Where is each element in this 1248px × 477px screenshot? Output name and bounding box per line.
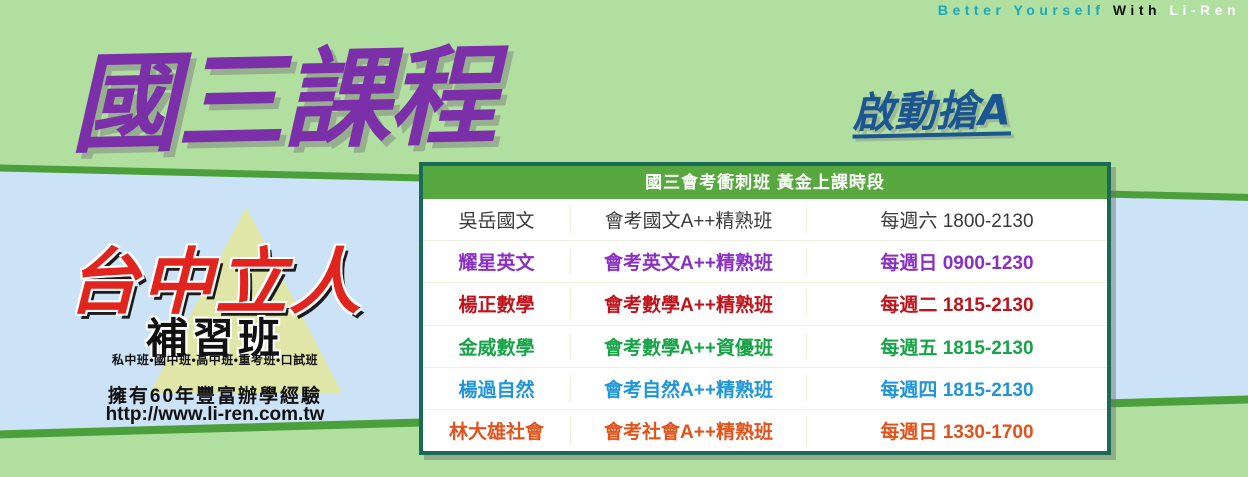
schedule-table: 國三會考衝刺班 黃金上課時段 吳岳國文會考國文A++精熟班每週六 1800-21… (419, 162, 1111, 455)
table-row: 楊過自然會考自然A++精熟班每週四 1815-2130 (423, 368, 1107, 410)
table-row: 楊正數學會考數學A++精熟班每週二 1815-2130 (423, 283, 1107, 325)
table-body: 吳岳國文會考國文A++精熟班每週六 1800-2130耀星英文會考英文A++精熟… (423, 199, 1107, 451)
table-cell-course: 會考社會A++精熟班 (571, 417, 807, 444)
table-cell-course: 會考數學A++精熟班 (571, 290, 807, 317)
table-row: 吳岳國文會考國文A++精熟班每週六 1800-2130 (423, 199, 1107, 241)
brand-logo: 台中立人 補習班 私中班•國中班•高中班•重考班•口試班 擁有60年豐富辦學經驗… (30, 205, 400, 420)
table-cell-time: 每週六 1800-2130 (807, 206, 1107, 233)
table-cell-course: 會考自然A++精熟班 (571, 375, 807, 402)
table-row: 金威數學會考數學A++資優班每週五 1815-2130 (423, 326, 1107, 368)
table-cell-time: 每週二 1815-2130 (807, 290, 1107, 317)
table-cell-time: 每週日 1330-1700 (807, 417, 1107, 444)
table-cell-teacher: 吳岳國文 (423, 206, 571, 233)
table-cell-time: 每週四 1815-2130 (807, 375, 1107, 402)
table-row: 耀星英文會考英文A++精熟班每週日 0900-1230 (423, 241, 1107, 283)
table-cell-teacher: 金威數學 (423, 333, 571, 360)
page-subtitle: 啟動搶A (851, 76, 1011, 140)
tagline-part3: Li-Ren (1169, 2, 1240, 18)
table-cell-teacher: 耀星英文 (423, 248, 571, 275)
page-title: 國三課程 (68, 10, 495, 175)
table-cell-course: 會考數學A++資優班 (571, 333, 807, 360)
table-cell-time: 每週日 0900-1230 (807, 248, 1107, 275)
tagline-part1: Better Yourself (938, 2, 1105, 18)
tagline: Better Yourself With Li-Ren (938, 2, 1240, 18)
table-cell-teacher: 楊正數學 (423, 290, 571, 317)
table-cell-course: 會考國文A++精熟班 (571, 206, 807, 233)
table-cell-time: 每週五 1815-2130 (807, 333, 1107, 360)
table-header: 國三會考衝刺班 黃金上課時段 (423, 166, 1107, 199)
logo-class-list: 私中班•國中班•高中班•重考班•口試班 (30, 351, 400, 368)
tagline-part2: With (1113, 2, 1161, 18)
logo-website-url[interactable]: http://www.li-ren.com.tw (30, 404, 400, 426)
table-row: 林大雄社會會考社會A++精熟班每週日 1330-1700 (423, 410, 1107, 451)
poster-canvas: Better Yourself With Li-Ren 國三課程 啟動搶A 台中… (0, 0, 1248, 477)
table-cell-teacher: 林大雄社會 (423, 417, 571, 444)
table-cell-course: 會考英文A++精熟班 (571, 248, 807, 275)
table-cell-teacher: 楊過自然 (423, 375, 571, 402)
